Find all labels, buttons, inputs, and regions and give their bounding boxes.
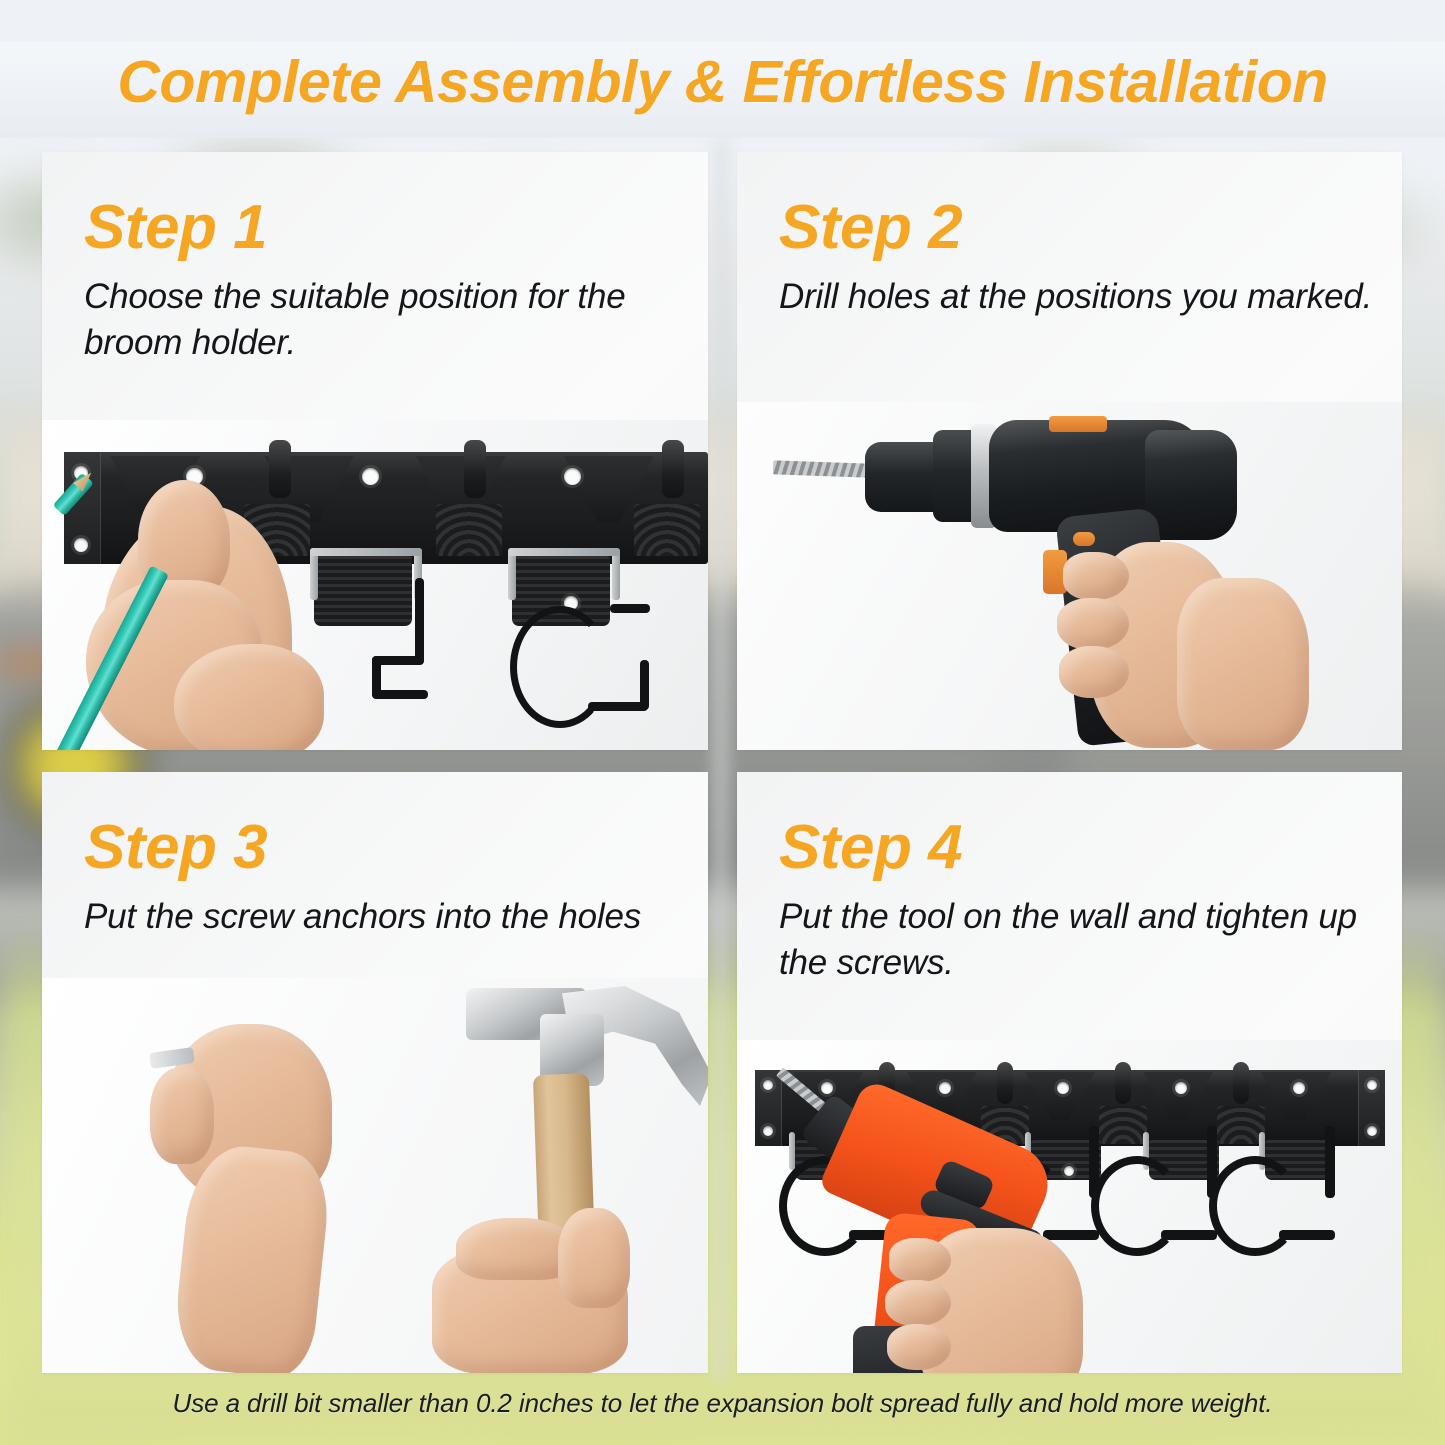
rail-v-clip — [1143, 1072, 1213, 1120]
step-1-title: Step 1 — [84, 192, 267, 263]
step-2-title: Step 2 — [779, 192, 962, 263]
footer-note: Use a drill bit smaller than 0.2 inches … — [0, 1388, 1445, 1419]
step-panel-3: Step 3 Put the screw anchors into the ho… — [42, 772, 708, 1373]
teal-pencil — [72, 468, 352, 728]
rail-clip-fan — [436, 504, 502, 556]
step-2-description: Drill holes at the positions you marked. — [779, 274, 1389, 320]
rail-mounting-hole — [1367, 1080, 1377, 1090]
rail-mounting-hole — [1057, 1082, 1069, 1094]
rail-clip-fan — [634, 504, 700, 556]
step-panel-4: Step 4 Put the tool on the wall and tigh… — [737, 772, 1402, 1373]
step-panel-1: Step 1 Choose the suitable position for … — [42, 152, 708, 750]
step-4-illustration — [737, 1040, 1402, 1373]
clip-screw-hole — [1064, 1166, 1074, 1176]
rail-clip-fan — [1217, 1106, 1265, 1144]
rail-mounting-hole — [564, 468, 581, 485]
page-title: Complete Assembly & Effortless Installat… — [0, 48, 1445, 116]
step-panel-2: Step 2 Drill holes at the positions you … — [737, 152, 1402, 750]
clip-wire-bracket — [789, 1132, 795, 1170]
rail-mounting-hole — [821, 1082, 833, 1094]
drill-direction-switch — [1073, 532, 1095, 546]
rail-mounting-hole — [1293, 1082, 1305, 1094]
rail-v-clip — [1261, 1072, 1331, 1120]
drill-rear-housing — [1145, 430, 1237, 540]
step-4-description: Put the tool on the wall and tighten up … — [779, 894, 1389, 985]
step-2-illustration — [737, 402, 1402, 750]
rail-mounting-hole — [763, 1080, 773, 1090]
step-1-illustration — [42, 420, 708, 750]
step-1-description: Choose the suitable position for the bro… — [84, 274, 684, 365]
drill-top-accent — [1049, 416, 1107, 432]
rail-cap-nub — [464, 440, 486, 498]
step-3-title: Step 3 — [84, 812, 267, 883]
rail-cap-nub — [1233, 1062, 1249, 1104]
rail-mounting-hole — [939, 1082, 951, 1094]
rail-mounting-hole — [763, 1126, 773, 1136]
step-4-title: Step 4 — [779, 812, 962, 883]
step-3-description: Put the screw anchors into the holes — [84, 894, 684, 940]
rail-mounting-hole — [1367, 1126, 1377, 1136]
clip-wire-bracket — [508, 548, 620, 556]
step-3-illustration — [42, 978, 708, 1373]
background-pole — [713, 140, 729, 1380]
rail-cap-nub — [997, 1062, 1013, 1104]
rail-clip-fan — [1099, 1106, 1147, 1144]
rail-cap-nub — [662, 440, 684, 498]
rail-mounting-hole — [362, 468, 379, 485]
infographic-page: Complete Assembly & Effortless Installat… — [0, 0, 1445, 1445]
rail-v-clip — [1025, 1072, 1095, 1120]
rail-mounting-hole — [1175, 1082, 1187, 1094]
rail-cap-nub — [1115, 1062, 1131, 1104]
